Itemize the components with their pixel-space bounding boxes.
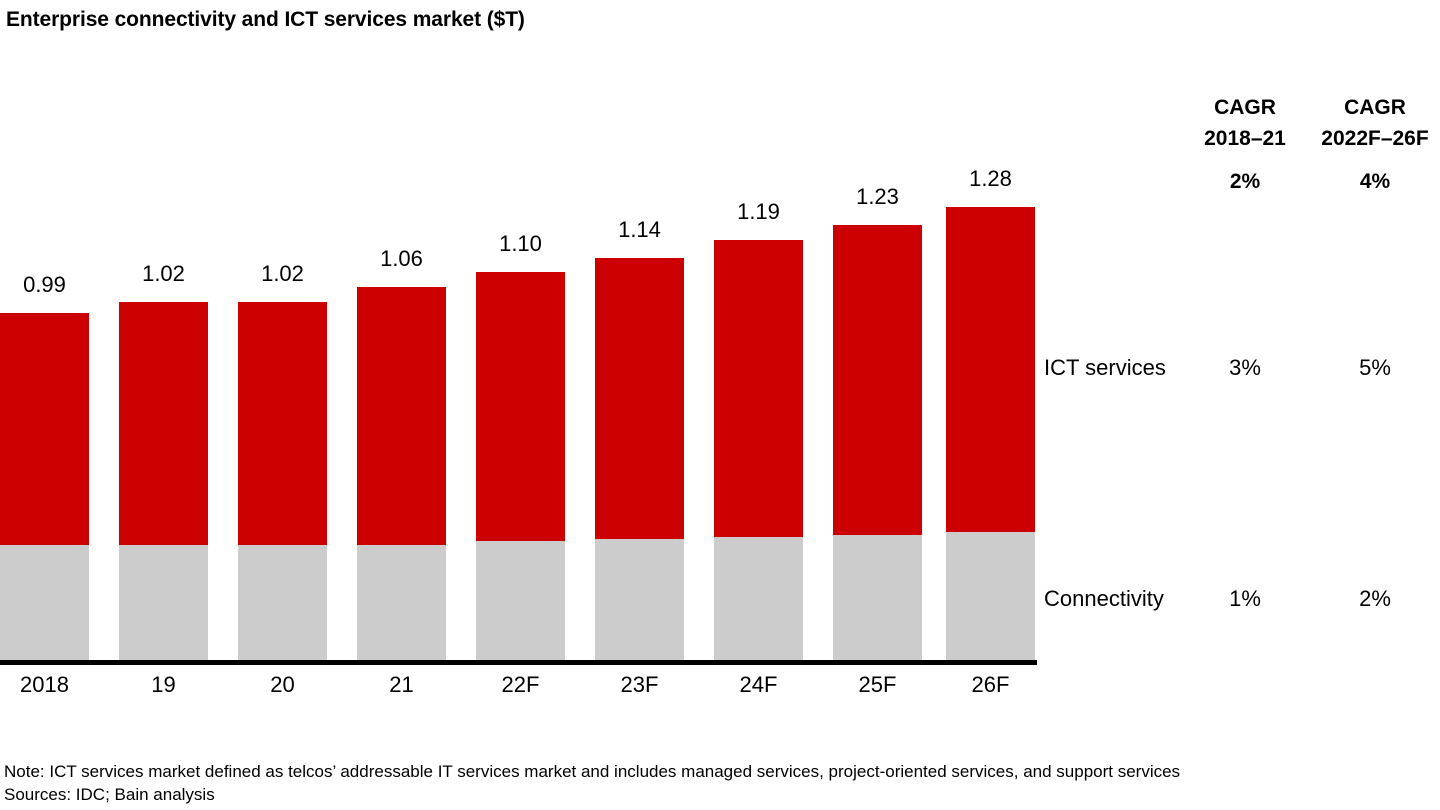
legend-label-ict-services: ICT services [1044,355,1166,381]
cagr-total-value-2: 4% [1310,170,1440,194]
bar-total-label: 1.06 [357,246,446,272]
cagr-header-1-line1: CAGR [1214,96,1276,119]
x-tick-label: 26F [946,672,1035,698]
bar-total-label: 1.28 [946,166,1035,192]
bar-segment-connectivity[interactable] [357,545,446,660]
bar-segment-ict-services[interactable] [119,302,208,545]
bar-total-label: 1.19 [714,199,803,225]
bar-stack[interactable] [238,302,327,660]
x-tick-label: 21 [357,672,446,698]
x-tick-label: 22F [476,672,565,698]
bar-stack[interactable] [595,258,684,660]
bar-stack[interactable] [714,240,803,660]
cagr-column-header-1: CAGR 2018–21 [1180,92,1310,154]
bar-stack[interactable] [946,207,1035,660]
footnotes: Note: ICT services market defined as tel… [4,760,1180,806]
x-tick-label: 2018 [0,672,89,698]
bar-segment-connectivity[interactable] [946,532,1035,660]
bar-total-label: 1.02 [119,261,208,287]
cagr-total-value-1: 2% [1180,170,1310,194]
bar-total-label: 1.02 [238,261,327,287]
bar-stack[interactable] [0,313,89,660]
legend-label-connectivity: Connectivity [1044,586,1164,612]
bar-segment-connectivity[interactable] [0,545,89,660]
bar-segment-connectivity[interactable] [119,545,208,660]
bar-total-label: 0.99 [0,272,89,298]
legend-cagr-2-ict-services: 5% [1310,355,1440,381]
legend-cagr-2-connectivity: 2% [1310,586,1440,612]
cagr-header: CAGR 2018–21 CAGR 2022F–26F 2% 4% [1040,92,1440,202]
legend-row-ict-services: ICT services 3% 5% [1040,355,1440,385]
bar-stack[interactable] [357,287,446,660]
bar-total-label: 1.10 [476,231,565,257]
x-tick-label: 25F [833,672,922,698]
x-tick-label: 24F [714,672,803,698]
bar-segment-ict-services[interactable] [714,240,803,537]
cagr-header-2-line2: 2022F–26F [1310,123,1440,154]
legend-row-connectivity: Connectivity 1% 2% [1040,586,1440,616]
bar-segment-ict-services[interactable] [476,272,565,541]
x-tick-label: 19 [119,672,208,698]
bar-segment-ict-services[interactable] [238,302,327,545]
footnote-sources: Sources: IDC; Bain analysis [4,783,1180,806]
bar-total-label: 1.23 [833,184,922,210]
bar-stack[interactable] [833,225,922,660]
bar-segment-ict-services[interactable] [946,207,1035,532]
chart-plot-area: 0.99 1.02 1.02 1.06 1.10 [0,0,1040,665]
bar-segment-ict-services[interactable] [833,225,922,535]
bar-segment-connectivity[interactable] [238,545,327,660]
legend-cagr-1-connectivity: 1% [1180,586,1310,612]
x-axis-line [0,660,1037,665]
footnote-note: Note: ICT services market defined as tel… [4,760,1180,783]
bar-segment-connectivity[interactable] [476,541,565,660]
legend-cagr-1-ict-services: 3% [1180,355,1310,381]
x-tick-label: 23F [595,672,684,698]
bar-segment-ict-services[interactable] [595,258,684,539]
cagr-column-header-2: CAGR 2022F–26F [1310,92,1440,154]
x-tick-label: 20 [238,672,327,698]
bar-segment-ict-services[interactable] [0,313,89,545]
cagr-header-1-line2: 2018–21 [1180,123,1310,154]
cagr-header-2-line1: CAGR [1344,96,1406,119]
bar-segment-connectivity[interactable] [595,539,684,660]
bar-stack[interactable] [119,302,208,660]
bar-segment-connectivity[interactable] [833,535,922,660]
bar-total-label: 1.14 [595,217,684,243]
bar-stack[interactable] [476,272,565,660]
bar-segment-ict-services[interactable] [357,287,446,545]
bar-segment-connectivity[interactable] [714,537,803,660]
